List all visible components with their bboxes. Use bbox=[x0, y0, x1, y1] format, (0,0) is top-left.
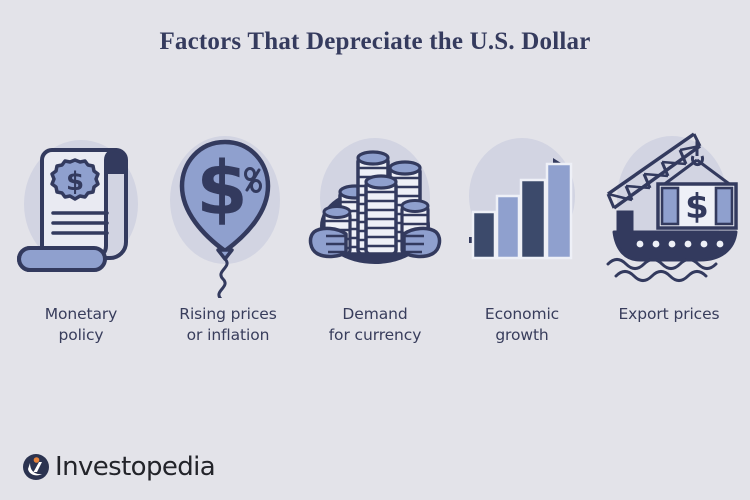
factor-label: Monetary policy bbox=[45, 304, 118, 347]
factor-item-monetary-policy: $ Monetary policy bbox=[8, 120, 154, 347]
factor-label: Export prices bbox=[618, 304, 719, 325]
bar-chart-arrow-icon bbox=[449, 120, 595, 298]
svg-text:$: $ bbox=[685, 187, 709, 227]
investopedia-wordmark: Investopedia bbox=[55, 452, 215, 482]
factor-item-export-prices: $ E bbox=[596, 120, 742, 325]
factor-label: Economic growth bbox=[485, 304, 559, 347]
svg-text:$: $ bbox=[196, 146, 248, 232]
scroll-dollar-seal-icon: $ bbox=[8, 120, 154, 298]
factor-item-demand-for-currency: Demand for currency bbox=[302, 120, 448, 347]
factor-item-economic-growth: Economic growth bbox=[449, 120, 595, 347]
page-title: Factors That Depreciate the U.S. Dollar bbox=[0, 28, 750, 56]
svg-text:$: $ bbox=[66, 167, 84, 197]
coin-stacks-hands-icon bbox=[302, 120, 448, 298]
factor-label: Rising prices or inflation bbox=[179, 304, 276, 347]
infographic-page: Factors That Depreciate the U.S. Dollar … bbox=[0, 0, 750, 500]
investopedia-logo-icon bbox=[22, 453, 50, 481]
factor-item-rising-prices: $ Rising prices or inflation bbox=[155, 120, 301, 347]
balloon-dollar-icon: $ bbox=[155, 120, 301, 298]
investopedia-logo: Investopedia bbox=[22, 452, 215, 482]
crane-cargo-ship-icon: $ bbox=[596, 120, 742, 298]
factor-label: Demand for currency bbox=[329, 304, 422, 347]
factors-row: $ Monetary policy bbox=[0, 120, 750, 347]
